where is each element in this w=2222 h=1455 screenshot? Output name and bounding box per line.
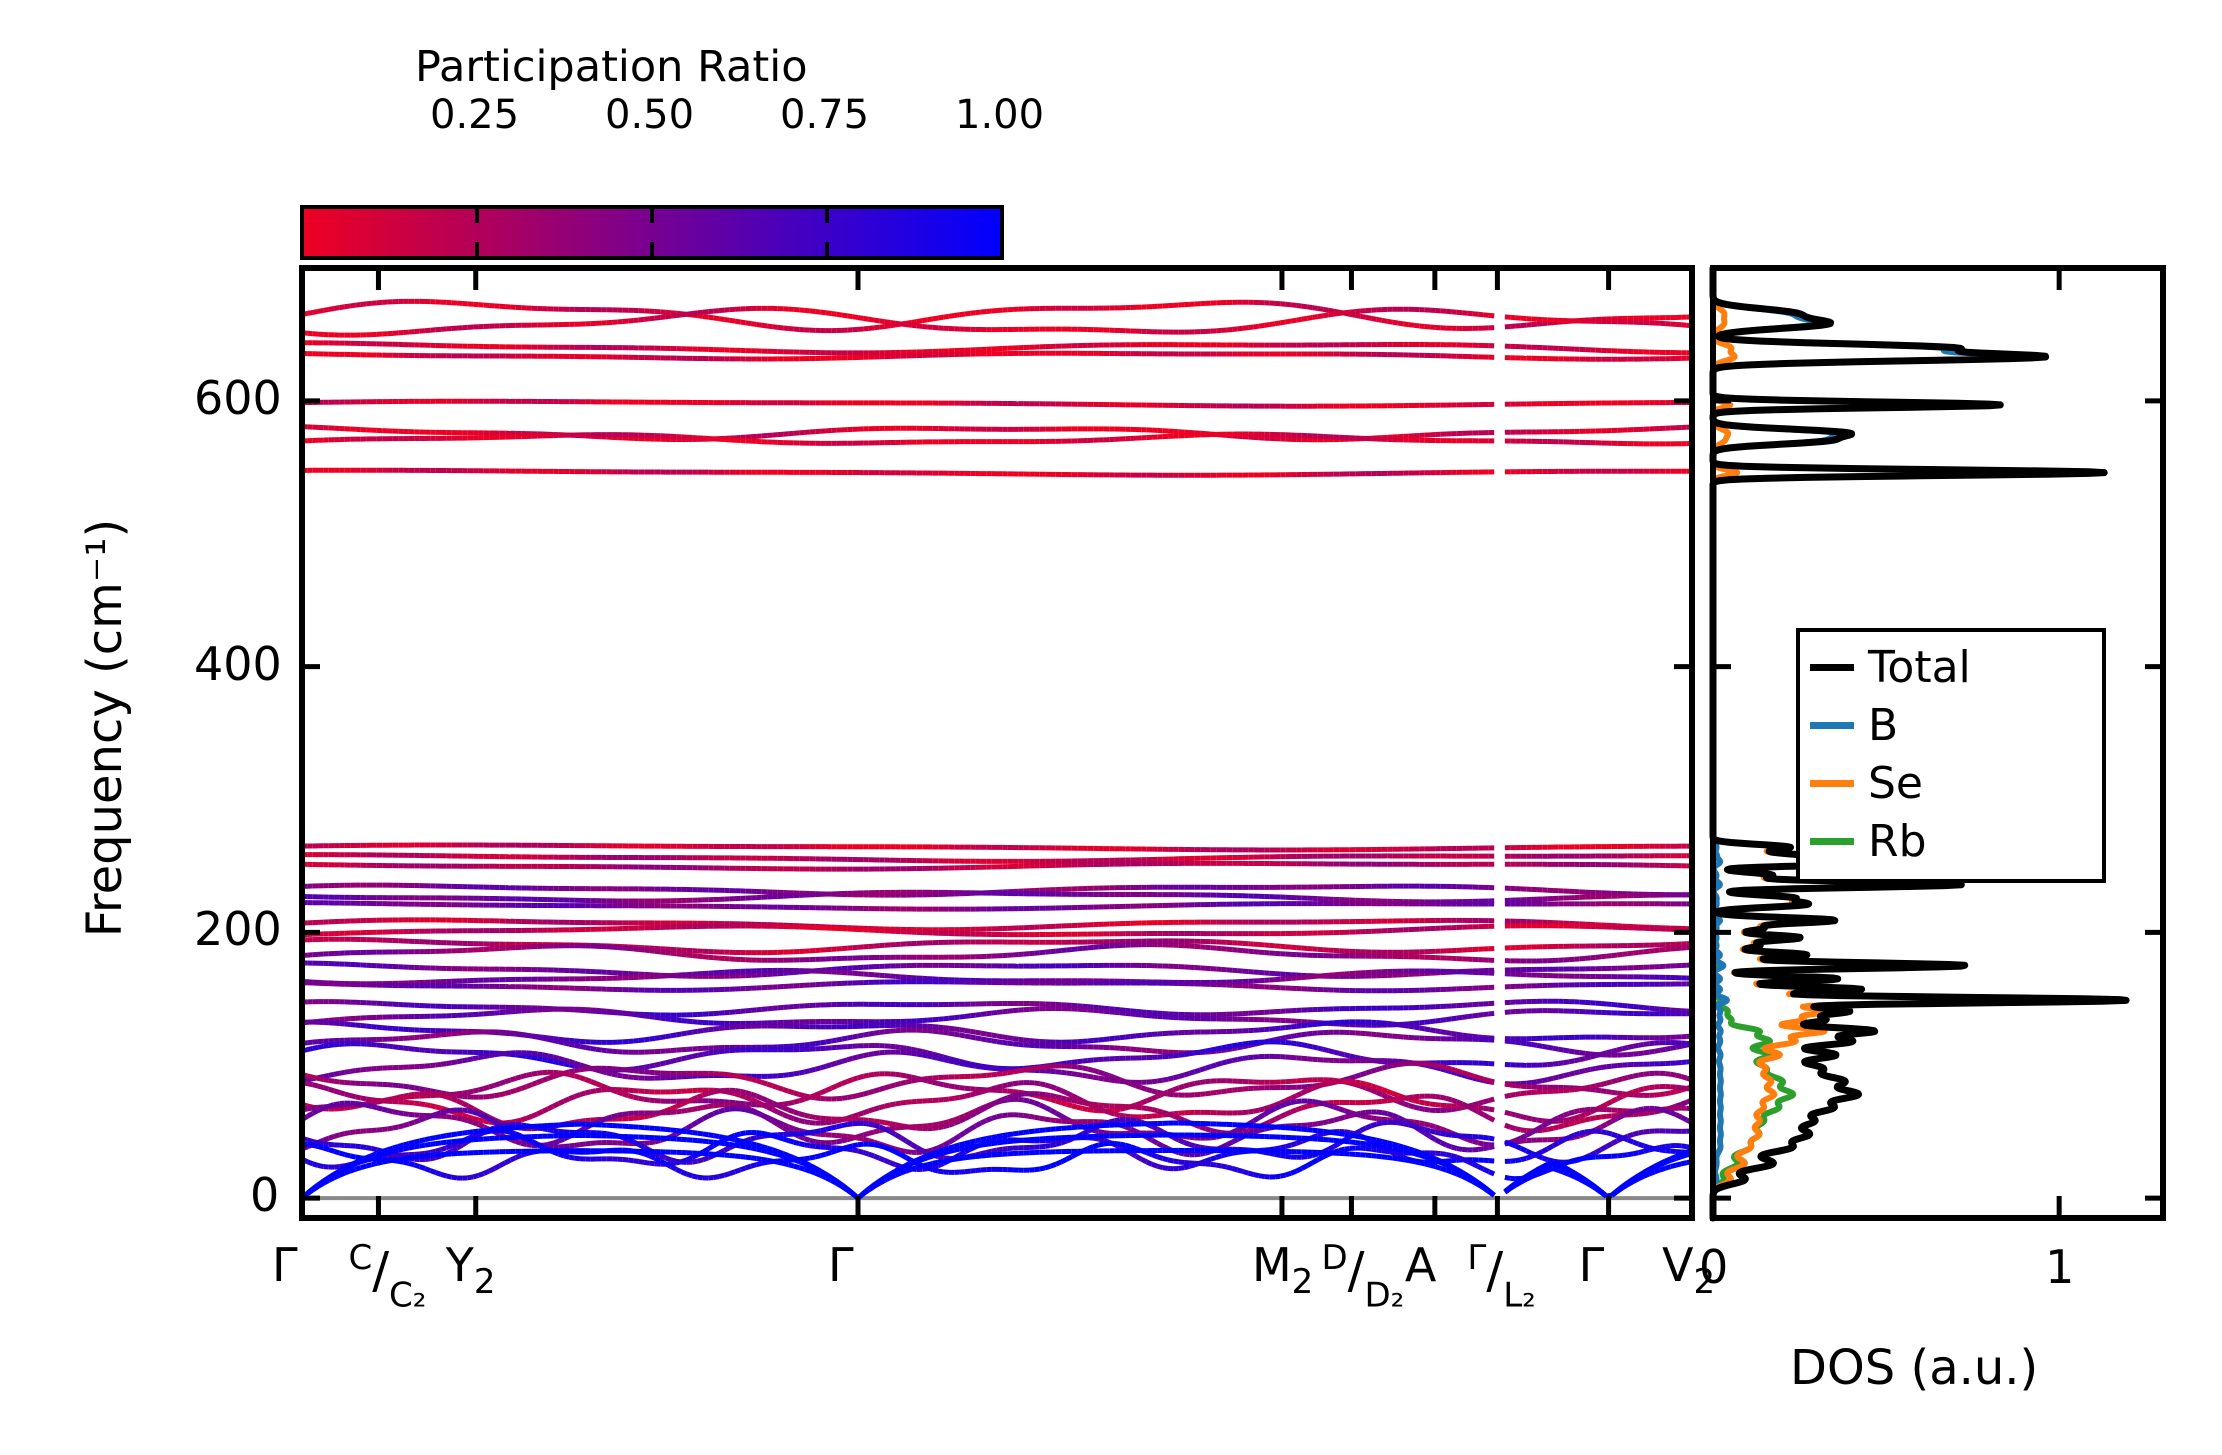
ytick-0: 0 <box>250 1168 279 1222</box>
dos-xaxis-label: DOS (a.u.) <box>1790 1340 2038 1396</box>
legend-label-total: Total <box>1868 642 1971 693</box>
legend-swatch-se <box>1810 780 1854 787</box>
kpoint-label-8: Γ <box>1579 1238 1605 1292</box>
kpoint-label-6: A <box>1405 1238 1436 1292</box>
ytick-400: 400 <box>194 637 282 691</box>
legend-swatch-rb <box>1810 838 1854 845</box>
kpoint-label-3: Γ <box>828 1238 854 1292</box>
legend-label-rb: Rb <box>1868 816 1927 867</box>
legend-item-b: B <box>1810 696 2092 754</box>
dos-xtick-1: 1 <box>2045 1240 2074 1294</box>
kpoint-label-1: C/C₂ <box>348 1238 426 1315</box>
legend-item-total: Total <box>1810 638 2092 696</box>
kpoint-label-0: Γ <box>272 1238 298 1292</box>
legend-swatch-b <box>1810 722 1854 729</box>
colorbar-tick-0: 0.25 <box>430 92 519 138</box>
legend-label-b: B <box>1868 700 1898 751</box>
ytick-200: 200 <box>194 902 282 956</box>
kpoint-label-2: Y2 <box>446 1238 496 1302</box>
dos-xtick-0: 0 <box>1699 1240 1728 1294</box>
legend-label-se: Se <box>1868 758 1923 809</box>
phonon-figure: Participation Ratio Frequency (cm⁻¹) DOS… <box>0 0 2222 1455</box>
ytick-600: 600 <box>194 371 282 425</box>
legend-swatch-total <box>1810 664 1854 671</box>
legend-item-se: Se <box>1810 754 2092 812</box>
kpoint-label-4: M2 <box>1252 1238 1313 1302</box>
colorbar-tick-3: 1.00 <box>955 92 1044 138</box>
dos-legend: TotalBSeRb <box>1796 628 2106 883</box>
colorbar-tick-1: 0.50 <box>605 92 694 138</box>
colorbar-tick-2: 0.75 <box>780 92 869 138</box>
legend-item-rb: Rb <box>1810 812 2092 870</box>
kpoint-label-5: D/D₂ <box>1321 1238 1404 1315</box>
kpoint-label-7: Γ/L₂ <box>1467 1238 1535 1315</box>
